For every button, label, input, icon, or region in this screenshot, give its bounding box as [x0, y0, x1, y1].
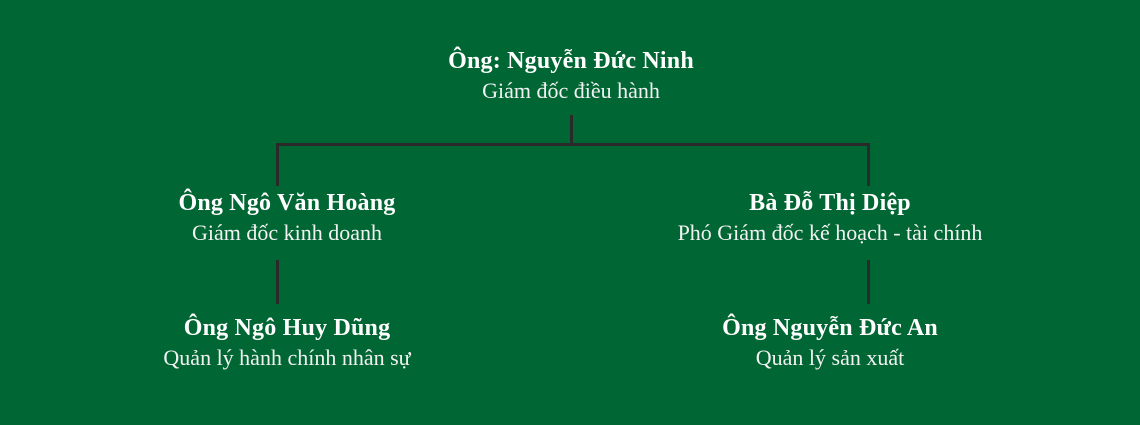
org-chart: Ông: Nguyễn Đức Ninh Giám đốc điều hành … [0, 0, 1140, 425]
org-node-hr: Ông Ngô Huy Dũng Quản lý hành chính nhân… [163, 313, 410, 373]
org-node-production-name: Ông Nguyễn Đức An [722, 313, 938, 343]
org-node-ceo-title: Giám đốc điều hành [448, 76, 694, 106]
org-node-ceo: Ông: Nguyễn Đức Ninh Giám đốc điều hành [448, 46, 694, 106]
org-node-sales-title: Giám đốc kinh doanh [178, 218, 395, 248]
connector-level2-bar [276, 143, 870, 146]
org-node-planning-name: Bà Đỗ Thị Diệp [678, 188, 983, 218]
org-node-sales: Ông Ngô Văn Hoàng Giám đốc kinh doanh [178, 188, 395, 248]
connector-drop-to-planning [867, 143, 870, 186]
connector-drop-to-sales [276, 143, 279, 186]
org-node-planning-title: Phó Giám đốc kế hoạch - tài chính [678, 218, 983, 248]
connector-sales-to-hr [276, 260, 279, 304]
org-node-planning: Bà Đỗ Thị Diệp Phó Giám đốc kế hoạch - t… [678, 188, 983, 248]
org-node-hr-title: Quản lý hành chính nhân sự [163, 343, 410, 373]
org-node-production: Ông Nguyễn Đức An Quản lý sản xuất [722, 313, 938, 373]
connector-planning-to-production [867, 260, 870, 304]
org-node-ceo-name: Ông: Nguyễn Đức Ninh [448, 46, 694, 76]
org-node-hr-name: Ông Ngô Huy Dũng [163, 313, 410, 343]
org-node-production-title: Quản lý sản xuất [722, 343, 938, 373]
connector-ceo-stem [570, 115, 573, 145]
org-node-sales-name: Ông Ngô Văn Hoàng [178, 188, 395, 218]
